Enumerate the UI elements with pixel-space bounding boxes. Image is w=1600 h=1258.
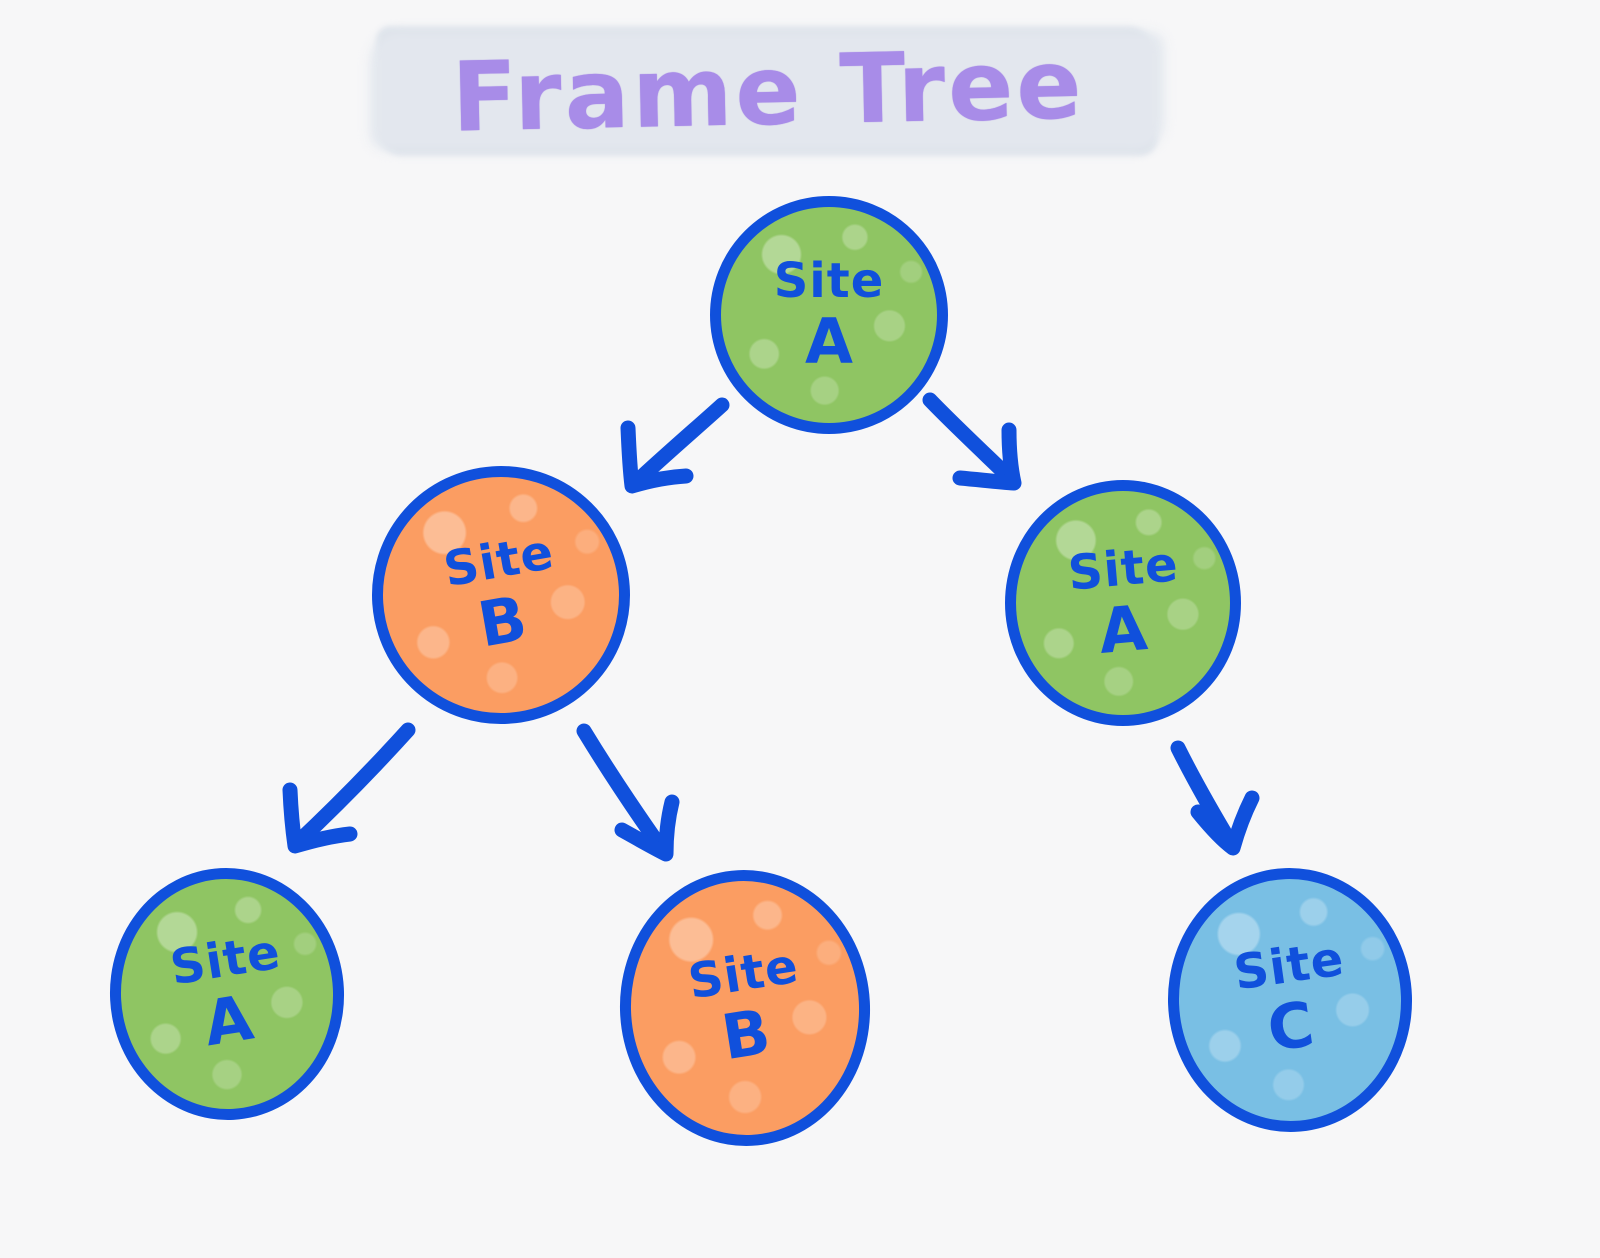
edge-root-to-b-mid bbox=[628, 405, 722, 486]
node-site-word: Site bbox=[1066, 540, 1180, 597]
node-site-letter: B bbox=[474, 587, 531, 656]
node-site-word: Site bbox=[685, 942, 802, 1007]
node-site-word: Site bbox=[774, 257, 885, 305]
node-site-a-root[interactable]: Site A bbox=[710, 196, 948, 434]
node-site-a-level1[interactable]: Site A bbox=[1005, 480, 1241, 726]
diagram-canvas: Frame Tree Site A bbox=[0, 0, 1600, 1258]
page-title: Frame Tree bbox=[367, 8, 1170, 175]
title-block: Frame Tree bbox=[368, 16, 1168, 166]
node-site-letter: A bbox=[805, 311, 853, 373]
node-site-letter: B bbox=[718, 1001, 774, 1070]
node-site-word: Site bbox=[167, 928, 284, 993]
edge-a-mid-to-c-leaf bbox=[1178, 748, 1252, 848]
node-site-word: Site bbox=[1231, 935, 1347, 998]
node-site-b-level1[interactable]: Site B bbox=[363, 457, 638, 732]
node-site-b-level2[interactable]: Site B bbox=[613, 864, 877, 1153]
node-site-c-level2[interactable]: Site C bbox=[1163, 864, 1416, 1136]
node-site-a-level2[interactable]: Site A bbox=[104, 862, 351, 1126]
node-site-letter: C bbox=[1264, 993, 1318, 1061]
edge-b-mid-to-b-leaf bbox=[584, 731, 672, 854]
edge-b-mid-to-a-leaf bbox=[290, 730, 408, 846]
edge-root-to-a-mid bbox=[930, 400, 1014, 483]
node-site-letter: A bbox=[1096, 597, 1149, 663]
node-site-letter: A bbox=[200, 987, 257, 1056]
